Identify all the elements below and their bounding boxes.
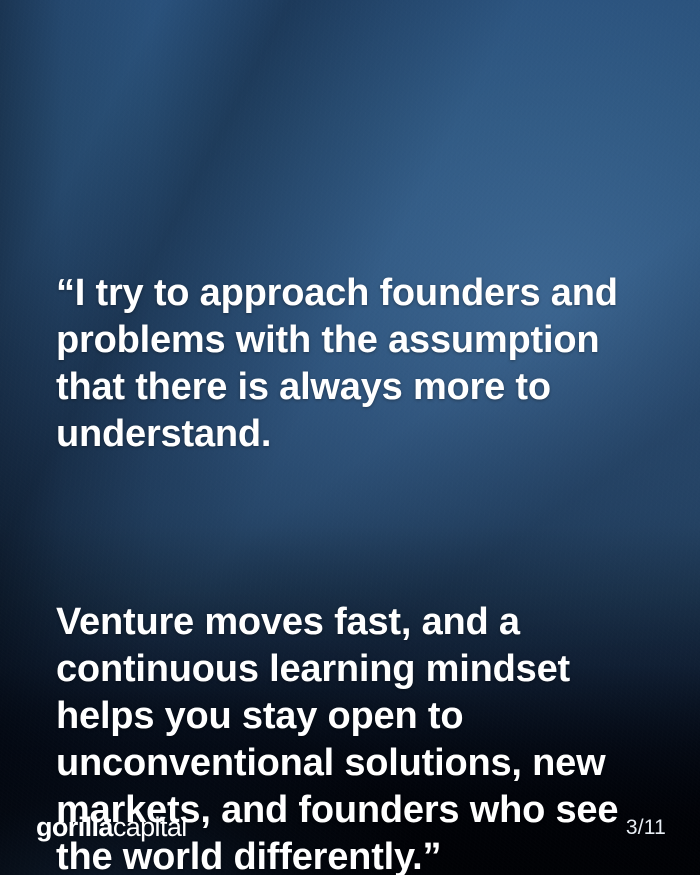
brand-logo-bold-part: gorilla — [36, 812, 113, 842]
quote-text-block: “I try to approach founders and problems… — [56, 176, 656, 875]
brand-logo: gorillacapital — [36, 814, 187, 841]
page-indicator: 3/11 — [626, 817, 666, 838]
brand-logo-light-part: capital — [113, 812, 187, 842]
slide-footer: gorillacapital 3/11 — [0, 779, 700, 875]
quote-slide: “I try to approach founders and problems… — [0, 0, 700, 875]
quote-paragraph-1: “I try to approach founders and problems… — [56, 270, 656, 458]
